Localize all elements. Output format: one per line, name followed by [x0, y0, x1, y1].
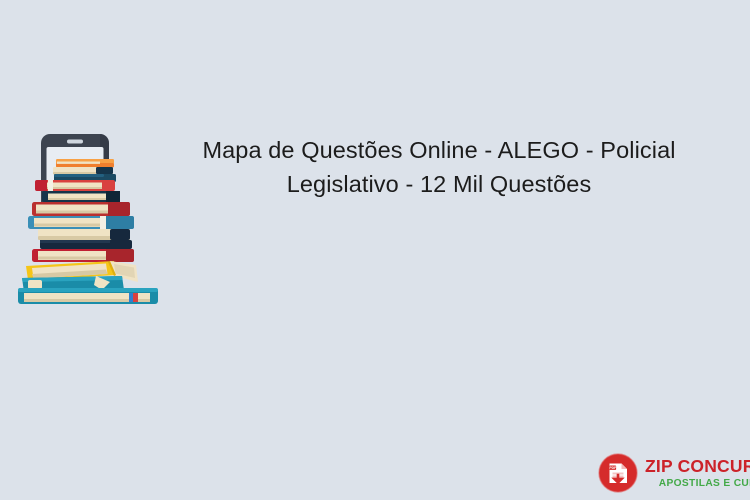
svg-text:PDF: PDF	[609, 466, 616, 470]
book-orange-top	[56, 159, 114, 168]
brand-logo[interactable]: PDF ZIP CONCURSOS APOSTILAS E CURSOS	[598, 451, 744, 495]
books-illustration-svg	[10, 130, 170, 310]
book-cream-1	[53, 167, 113, 175]
books-illustration	[10, 130, 170, 310]
brand-tagline: APOSTILAS E CURSOS	[645, 479, 750, 489]
book-crimson-1	[32, 249, 134, 262]
book-cream-2	[38, 229, 130, 240]
brand-wordmark: ZIP CONCURSOS APOSTILAS E CURSOS	[645, 457, 750, 489]
book-darkred-1	[32, 202, 130, 216]
book-teal-base	[18, 288, 158, 304]
book-darknavy-1	[40, 240, 132, 249]
brand-name: ZIP CONCURSOS	[645, 458, 750, 476]
title-block: Mapa de Questões Online - ALEGO - Polici…	[185, 133, 693, 201]
pdf-download-icon: PDF	[598, 453, 638, 493]
book-navy-2	[42, 191, 120, 202]
pdf-download-icon-svg: PDF	[598, 453, 638, 493]
page-title: Mapa de Questões Online - ALEGO - Polici…	[185, 133, 693, 201]
page-canvas: Mapa de Questões Online - ALEGO - Polici…	[0, 0, 750, 500]
book-blue-1	[28, 216, 134, 229]
book-red-1	[35, 180, 115, 191]
